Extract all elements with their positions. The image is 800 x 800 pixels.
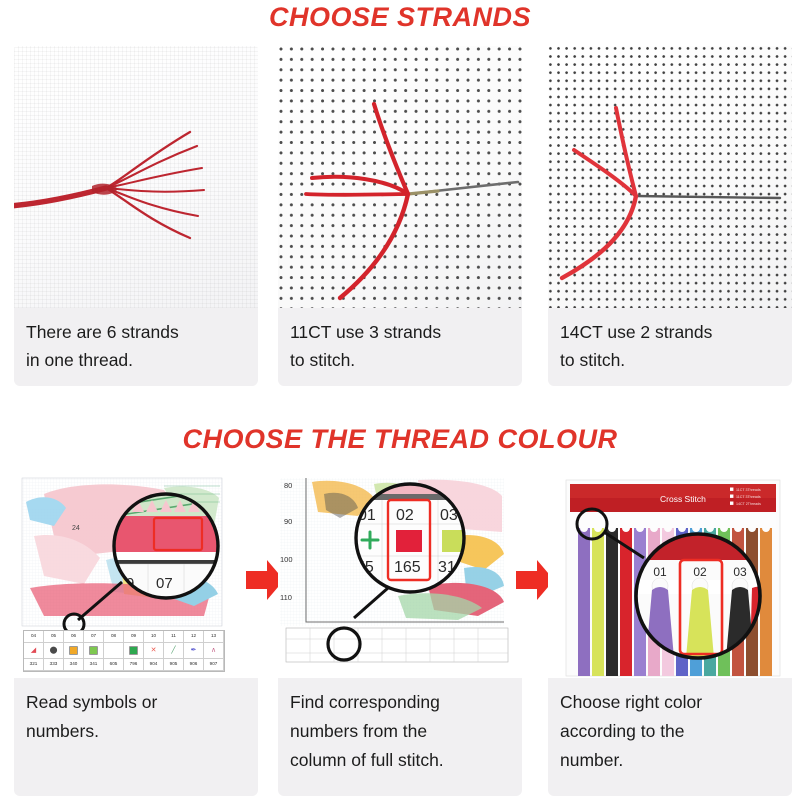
caption-line: numbers from the	[290, 717, 510, 746]
photo-pattern-chart-symbols: 24 07	[14, 476, 258, 678]
legend-symbol-cell: ✕	[144, 643, 164, 659]
svg-text:02: 02	[396, 507, 414, 524]
caption-line: according to the	[560, 717, 780, 746]
needle-two-strands-illustration	[548, 46, 792, 308]
legend-code-cell: 796	[124, 659, 144, 671]
cross-stitch-chart-with-row-labels: 80 90 100 110	[278, 476, 522, 678]
photo-14ct-needle	[548, 46, 792, 308]
panel-find-numbers: 80 90 100 110	[278, 476, 522, 796]
caption-line: Choose right color	[560, 688, 780, 717]
legend-number-cell: 09	[124, 631, 144, 643]
caption-line: There are 6 strands	[26, 318, 246, 346]
legend-number-cell: 13	[204, 631, 224, 643]
caption-line: in one thread.	[26, 346, 246, 374]
thread-six-strands-illustration	[14, 46, 258, 308]
card-legend-line: 14CT 2Threads	[736, 502, 761, 506]
svg-text:01: 01	[653, 565, 667, 579]
caption-line: to stitch.	[560, 346, 780, 374]
legend-symbol-cell: ◢	[24, 643, 44, 659]
legend-code-cell: 905	[164, 659, 184, 671]
caption-line: column of full stitch.	[290, 746, 510, 775]
legend-symbol-cell: ╱	[164, 643, 184, 659]
svg-text:07: 07	[156, 575, 173, 592]
row-label: 80	[284, 481, 292, 490]
caption-line: number.	[560, 746, 780, 775]
photo-six-strands	[14, 46, 258, 308]
legend-code-cell: 906	[184, 659, 204, 671]
legend-code-cell: 340	[64, 659, 84, 671]
caption-line: 11CT use 3 strands	[290, 318, 510, 346]
caption-read-symbols: Read symbols or numbers.	[14, 678, 258, 796]
row-label: 90	[284, 517, 292, 526]
panel-read-symbols: 24 07	[14, 476, 258, 796]
caption-choose-colour: Choose right color according to the numb…	[548, 678, 792, 796]
legend-code-cell: 904	[144, 659, 164, 671]
legend-code-cell: 907	[204, 659, 224, 671]
row-label: 110	[280, 593, 292, 602]
floss-organizer-card: Cross Stitch 11CT 3Threads 11CT 3Threads…	[548, 476, 792, 678]
legend-symbol-cell: ∧	[204, 643, 224, 659]
svg-text:03: 03	[733, 565, 747, 579]
needle-three-strands-illustration	[278, 46, 522, 308]
legend-number-cell: 10	[144, 631, 164, 643]
photo-11ct-needle	[278, 46, 522, 308]
legend-number-cell: 06	[64, 631, 84, 643]
caption-line: Read symbols or	[26, 688, 246, 717]
caption-14ct: 14CT use 2 strands to stitch.	[548, 308, 792, 386]
legend-symbol-cell: ○	[104, 643, 124, 659]
section-title-choose-thread-colour: CHOOSE THE THREAD COLOUR	[0, 424, 800, 455]
caption-line: Find corresponding	[290, 688, 510, 717]
legend-code-cell: 333	[44, 659, 64, 671]
legend-number-cell: 05	[44, 631, 64, 643]
legend-symbol-cell	[84, 643, 104, 659]
caption-line: 14CT use 2 strands	[560, 318, 780, 346]
svg-text:165: 165	[394, 559, 421, 576]
card-legend-line: 11CT 3Threads	[736, 488, 761, 492]
legend-number-cell: 07	[84, 631, 104, 643]
photo-pattern-chart-numbers: 80 90 100 110	[278, 476, 522, 678]
caption-line: to stitch.	[290, 346, 510, 374]
legend-number-cell: 04	[24, 631, 44, 643]
card-legend-line: 11CT 3Threads	[736, 495, 761, 499]
legend-symbol-cell	[64, 643, 84, 659]
legend-code-cell: 605	[104, 659, 124, 671]
card-title-text: Cross Stitch	[660, 494, 706, 504]
legend-code-cell: 341	[84, 659, 104, 671]
panel-14ct-two-strands: 14CT use 2 strands to stitch.	[548, 46, 792, 394]
caption-six-strands: There are 6 strands in one thread.	[14, 308, 258, 386]
legend-symbol-cell: ✒	[184, 643, 204, 659]
legend-symbol-cell	[124, 643, 144, 659]
section-title-choose-strands: CHOOSE STRANDS	[0, 2, 800, 33]
panel-choose-colour: Cross Stitch 11CT 3Threads 11CT 3Threads…	[548, 476, 792, 796]
panel-11ct-three-strands: 11CT use 3 strands to stitch.	[278, 46, 522, 394]
caption-find-numbers: Find corresponding numbers from the colu…	[278, 678, 522, 796]
chart-cell-label: 24	[72, 525, 80, 532]
legend-code-cell: 321	[24, 659, 44, 671]
symbol-legend-table: 04050607080910111213◢⬤○✕╱✒∧3213333403416…	[23, 630, 225, 672]
legend-number-cell: 11	[164, 631, 184, 643]
caption-line: numbers.	[26, 717, 246, 746]
legend-symbol-cell: ⬤	[44, 643, 64, 659]
legend-number-cell: 12	[184, 631, 204, 643]
infographic-page: CHOOSE STRANDS There are 6 strands in on…	[0, 0, 800, 800]
panel-six-strands: There are 6 strands in one thread.	[14, 46, 258, 394]
svg-text:02: 02	[693, 565, 707, 579]
photo-thread-card: Cross Stitch 11CT 3Threads 11CT 3Threads…	[548, 476, 792, 678]
row-label: 100	[280, 555, 293, 564]
caption-11ct: 11CT use 3 strands to stitch.	[278, 308, 522, 386]
legend-number-cell: 08	[104, 631, 124, 643]
